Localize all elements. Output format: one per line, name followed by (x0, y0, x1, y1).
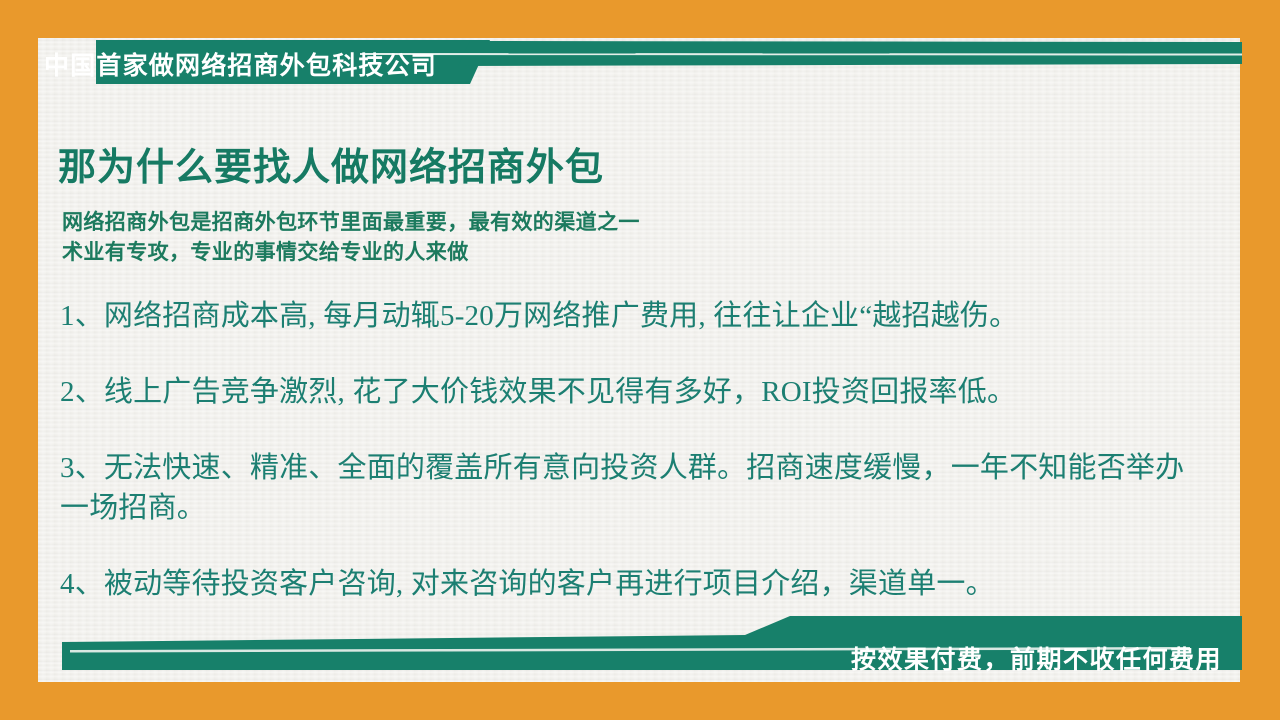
list-item: 2、线上广告竞争激烈, 花了大价钱效果不见得有多好，ROI投资回报率低。 (60, 372, 1200, 412)
body-list: 1、网络招商成本高, 每月动辄5-20万网络推广费用, 往往让企业“越招越伤。 … (60, 296, 1200, 604)
list-item: 3、无法快速、精准、全面的覆盖所有意向投资人群。招商速度缓慢，一年不知能否举办一… (60, 448, 1200, 528)
slide-canvas: 中国首家做网络招商外包科技公司 那为什么要找人做网络招商外包 网络招商外包是招商… (0, 0, 1280, 720)
page-title: 那为什么要找人做网络招商外包 (58, 136, 604, 191)
subtitle-line-2: 术业有专攻，专业的事情交给专业的人来做 (62, 238, 640, 268)
subtitle-line-1: 网络招商外包是招商外包环节里面最重要，最有效的渠道之一 (62, 208, 640, 238)
header-tag-label: 中国首家做网络招商外包科技公司 (44, 44, 474, 84)
list-item: 1、网络招商成本高, 每月动辄5-20万网络推广费用, 往往让企业“越招越伤。 (60, 296, 1200, 336)
subtitle-block: 网络招商外包是招商外包环节里面最重要，最有效的渠道之一 术业有专攻，专业的事情交… (62, 208, 640, 268)
list-item: 4、被动等待投资客户咨询, 对来咨询的客户再进行项目介绍，渠道单一。 (60, 564, 1200, 604)
footer-tagline: 按效果付费，前期不收任何费用 (851, 640, 1222, 676)
